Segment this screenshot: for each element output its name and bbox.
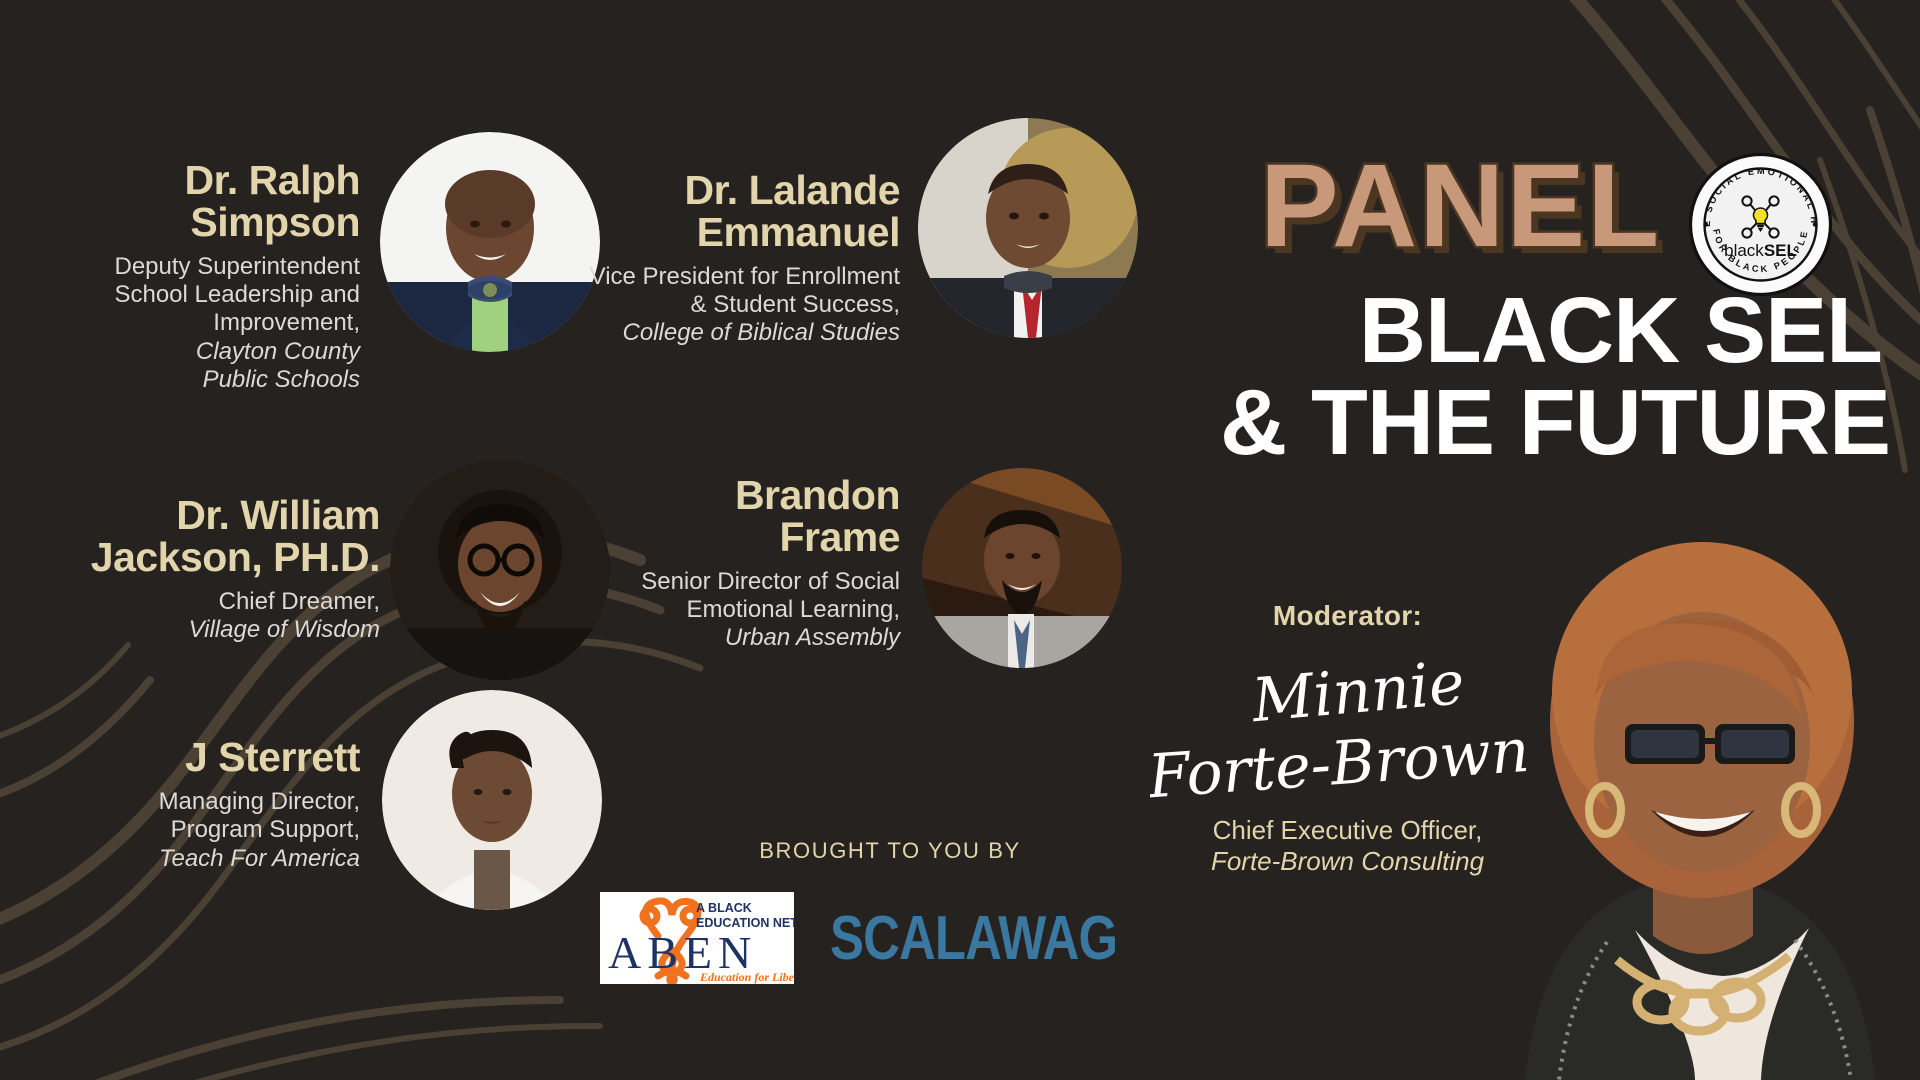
- panelist-role: Managing Director, Program Support,: [100, 788, 360, 845]
- panelist-card: Dr. Lalande Emmanuel Vice President for …: [560, 170, 1170, 348]
- panelist-role: Vice President for Enrollment & Student …: [560, 263, 900, 320]
- poster-canvas: Dr. Ralph Simpson Deputy Superintendent …: [0, 0, 1920, 1080]
- panelist-role: Senior Director of Social Emotional Lear…: [600, 568, 900, 625]
- panelist-name: Dr. William Jackson, PH.D.: [10, 495, 380, 579]
- panelist-photo: [390, 460, 610, 680]
- panelist-role: Deputy Superintendent School Leadership …: [60, 253, 360, 338]
- moderator-label: Moderator:: [1150, 600, 1545, 632]
- panelist-name: Dr. Lalande Emmanuel: [560, 170, 900, 254]
- panelist-photo: [918, 118, 1138, 338]
- panelist-text: Brandon Frame Senior Director of Social …: [600, 475, 900, 653]
- moderator-org: Forte-Brown Consulting: [1150, 846, 1545, 877]
- panelist-card: Brandon Frame Senior Director of Social …: [600, 460, 1170, 668]
- moderator-name-script: Minnie Forte-Brown: [1150, 634, 1545, 809]
- badge-wordmark: blackSEL: [1724, 241, 1797, 260]
- panelist-photo: [382, 690, 602, 910]
- panelist-name: J Sterrett: [100, 737, 360, 779]
- scalawag-logo[interactable]: SCALAWAG: [830, 903, 1180, 974]
- panelist-role: Chief Dreamer,: [10, 588, 380, 616]
- panelist-org: Teach For America: [100, 845, 360, 873]
- panelist-text: Dr. Ralph Simpson Deputy Superintendent …: [60, 160, 360, 394]
- scalawag-wordmark: SCALAWAG: [830, 903, 1117, 974]
- panelist-card: J Sterrett Managing Director, Program Su…: [100, 700, 620, 910]
- panelist-name: Dr. Ralph Simpson: [60, 160, 360, 244]
- panelist-name: Brandon Frame: [600, 475, 900, 559]
- sponsor-logo-row: A BLACK EDUCATION NETWORK ABEN Education…: [600, 892, 1180, 984]
- panelist-org: Urban Assembly: [600, 624, 900, 652]
- panelist-photo: [922, 468, 1122, 668]
- panelist-org: Village of Wisdom: [10, 616, 380, 644]
- moderator-last-name: Forte-Brown: [1150, 716, 1532, 804]
- aben-top-line-1: A BLACK: [696, 901, 752, 915]
- sponsors-block: BROUGHT TO YOU BY A BLACK EDUCATION NETW…: [600, 838, 1180, 984]
- panelist-org: Clayton County Public Schools: [60, 338, 360, 395]
- moderator-block: Moderator: Minnie Forte-Brown Chief Exec…: [1150, 600, 1545, 877]
- panelist-text: Dr. William Jackson, PH.D. Chief Dreamer…: [10, 495, 380, 644]
- panelist-text: Dr. Lalande Emmanuel Vice President for …: [560, 170, 900, 348]
- blacksel-logo-badge: THE SOCIAL EMOTIONAL HUB FOR BLACK PEOPL…: [1688, 152, 1833, 302]
- aben-tagline: Education for Liberation: [699, 970, 794, 984]
- aben-logo[interactable]: A BLACK EDUCATION NETWORK ABEN Education…: [600, 892, 794, 984]
- moderator-photo: [1485, 510, 1920, 1080]
- panelist-text: J Sterrett Managing Director, Program Su…: [100, 737, 360, 873]
- title-line-2: & THE FUTURE: [1150, 376, 1920, 468]
- panelist-card: Dr. William Jackson, PH.D. Chief Dreamer…: [10, 460, 620, 680]
- moderator-role: Chief Executive Officer,: [1150, 815, 1545, 846]
- panelist-org: College of Biblical Studies: [560, 319, 900, 347]
- brought-to-you-by-label: BROUGHT TO YOU BY: [600, 838, 1180, 864]
- panelist-card: Dr. Ralph Simpson Deputy Superintendent …: [60, 160, 620, 394]
